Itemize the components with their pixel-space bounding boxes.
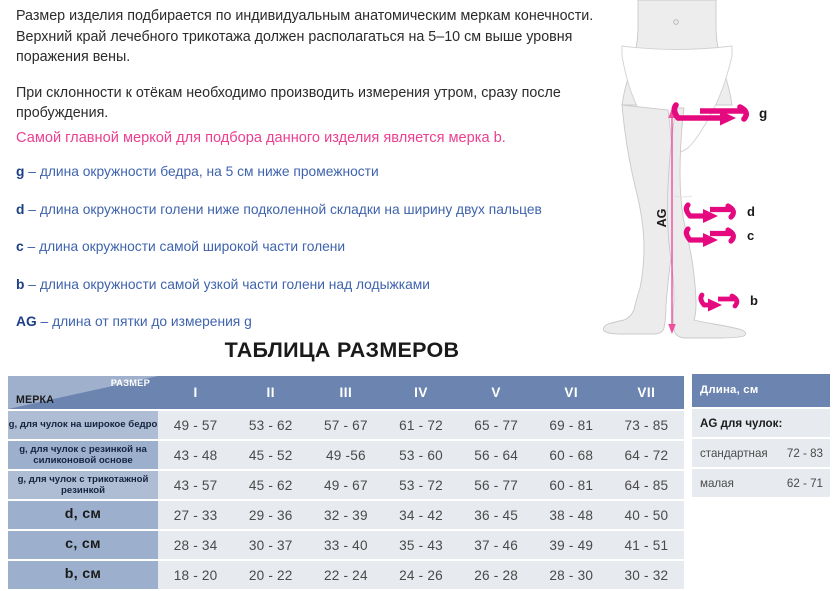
page-title: ТАБЛИЦА РАЗМЕРОВ xyxy=(0,338,684,363)
cell-value: 73 - 85 xyxy=(609,411,684,439)
table-row: g, для чулок на широкое бедро 49 - 57 53… xyxy=(8,411,684,439)
cell-value: 32 - 39 xyxy=(308,501,383,529)
cell-value: 37 - 46 xyxy=(459,531,534,559)
cell-value: 35 - 43 xyxy=(383,531,458,559)
cell-value: 30 - 37 xyxy=(233,531,308,559)
cell-value: 39 - 49 xyxy=(534,531,609,559)
ag-label: AG xyxy=(655,209,669,228)
intro-paragraph-1: Размер изделия подбирается по индивидуал… xyxy=(16,6,616,68)
column-header-i: I xyxy=(158,376,233,409)
legend-key-b: b xyxy=(16,277,24,292)
legend-text-b: длина окружности самой узкой части голен… xyxy=(40,277,430,292)
b-label: b xyxy=(750,293,758,308)
cell-value: 43 - 48 xyxy=(158,441,233,469)
size-table-body: g, для чулок на широкое бедро 49 - 57 53… xyxy=(8,411,684,589)
cell-value: 27 - 33 xyxy=(158,501,233,529)
cell-value: 61 - 72 xyxy=(383,411,458,439)
cell-value: 22 - 24 xyxy=(308,561,383,589)
leg-measurement-illustration: AG g d c xyxy=(600,0,836,350)
length-panel-header: Длина, см xyxy=(692,374,830,407)
column-header-vii: VII xyxy=(609,376,684,409)
cell-value: 29 - 36 xyxy=(233,501,308,529)
cell-value: 41 - 51 xyxy=(609,531,684,559)
length-panel-row-small: малая 62 - 71 xyxy=(692,469,830,497)
cell-value: 26 - 28 xyxy=(459,561,534,589)
cell-value: 28 - 34 xyxy=(158,531,233,559)
cell-value: 45 - 62 xyxy=(233,471,308,499)
d-label: d xyxy=(747,204,755,219)
c-label: c xyxy=(747,228,754,243)
column-header-ii: II xyxy=(233,376,308,409)
cell-value: 28 - 30 xyxy=(534,561,609,589)
cell-value: 38 - 48 xyxy=(534,501,609,529)
cell-value: 49 - 57 xyxy=(158,411,233,439)
highlight-note: Самой главной меркой для подбора данного… xyxy=(16,128,626,148)
cell-value: 53 - 72 xyxy=(383,471,458,499)
cell-value: 49 - 67 xyxy=(308,471,383,499)
table-row: g, для чулок с трикотажной резинкой 43 -… xyxy=(8,471,684,499)
measurement-legend: g – длина окружности бедра, на 5 см ниже… xyxy=(16,163,636,351)
row-label-g-wide-thigh: g, для чулок на широкое бедро xyxy=(8,411,158,439)
row-label-d: d, см xyxy=(8,501,158,529)
legend-item-c: c – длина окружности самой широкой части… xyxy=(16,238,636,256)
cell-value: 34 - 42 xyxy=(383,501,458,529)
cell-value: 18 - 20 xyxy=(158,561,233,589)
g-label: g xyxy=(759,106,767,121)
row-label-g-knit-band: g, для чулок с трикотажной резинкой xyxy=(8,471,158,499)
cell-value: 57 - 67 xyxy=(308,411,383,439)
cell-value: 36 - 45 xyxy=(459,501,534,529)
length-panel-row-title: AG для чулок: xyxy=(692,409,830,437)
cell-value: 64 - 72 xyxy=(609,441,684,469)
size-table: РАЗМЕР МЕРКА I II III IV V VI VII g, для… xyxy=(8,374,684,591)
legend-key-ag: AG xyxy=(16,314,37,329)
d-measure-arrow xyxy=(686,205,733,223)
row-label-g-silicone-band: g, для чулок с резинкой на силиконовой о… xyxy=(8,441,158,469)
length-panel-row-standard: стандартная 72 - 83 xyxy=(692,439,830,467)
cell-value: 20 - 22 xyxy=(233,561,308,589)
table-row: b, см 18 - 20 20 - 22 22 - 24 24 - 26 26… xyxy=(8,561,684,589)
legend-text-c: длина окружности самой широкой части гол… xyxy=(39,239,345,254)
legend-key-d: d xyxy=(16,202,24,217)
column-header-iii: III xyxy=(308,376,383,409)
column-header-v: V xyxy=(459,376,534,409)
size-table-head: РАЗМЕР МЕРКА I II III IV V VI VII xyxy=(8,376,684,409)
cell-value: 56 - 64 xyxy=(459,441,534,469)
legend-dash: – xyxy=(41,314,49,329)
legend-dash: – xyxy=(28,239,36,254)
row-label-b: b, см xyxy=(8,561,158,589)
cell-value: 30 - 32 xyxy=(609,561,684,589)
legend-item-ag: AG – длина от пятки до измерения g xyxy=(16,313,636,331)
cell-value: 53 - 62 xyxy=(233,411,308,439)
table-corner-cell: РАЗМЕР МЕРКА xyxy=(8,376,158,409)
size-table-header-row: РАЗМЕР МЕРКА I II III IV V VI VII xyxy=(8,376,684,409)
legend-dash: – xyxy=(28,202,36,217)
b-measure-arrow xyxy=(701,295,737,312)
length-panel: Длина, см AG для чулок: стандартная 72 -… xyxy=(692,374,830,497)
length-row-name: малая xyxy=(700,477,787,490)
legend-text-g: длина окружности бедра, на 5 см ниже про… xyxy=(40,164,379,179)
legend-dash: – xyxy=(28,164,36,179)
cell-value: 24 - 26 xyxy=(383,561,458,589)
cell-value: 45 - 52 xyxy=(233,441,308,469)
legend-item-b: b – длина окружности самой узкой части г… xyxy=(16,276,636,294)
cell-value: 69 - 81 xyxy=(534,411,609,439)
legend-text-ag: длина от пятки до измерения g xyxy=(52,314,252,329)
legend-item-g: g – длина окружности бедра, на 5 см ниже… xyxy=(16,163,636,181)
cell-value: 53 - 60 xyxy=(383,441,458,469)
cell-value: 64 - 85 xyxy=(609,471,684,499)
cell-value: 65 - 77 xyxy=(459,411,534,439)
length-row-name: стандартная xyxy=(700,447,787,460)
corner-merka-label: МЕРКА xyxy=(16,394,54,406)
legend-key-c: c xyxy=(16,239,24,254)
row-label-c: c, см xyxy=(8,531,158,559)
length-row-value: 62 - 71 xyxy=(787,477,823,490)
legend-key-g: g xyxy=(16,164,24,179)
cell-value: 49 -56 xyxy=(308,441,383,469)
cell-value: 60 - 81 xyxy=(534,471,609,499)
cell-value: 60 - 68 xyxy=(534,441,609,469)
corner-size-label: РАЗМЕР xyxy=(111,378,150,388)
intro-paragraph-2: При склонности к отёкам необходимо произ… xyxy=(16,83,616,124)
cell-value: 56 - 77 xyxy=(459,471,534,499)
knee-line xyxy=(674,196,692,197)
c-measure-arrow xyxy=(686,229,733,247)
cell-value: 40 - 50 xyxy=(609,501,684,529)
intro-text-block: Размер изделия подбирается по индивидуал… xyxy=(16,6,616,139)
length-row-name: AG для чулок: xyxy=(700,417,823,430)
legend-dash: – xyxy=(28,277,36,292)
column-header-vi: VI xyxy=(534,376,609,409)
cell-value: 33 - 40 xyxy=(308,531,383,559)
length-row-value: 72 - 83 xyxy=(787,447,823,460)
legend-text-d: длина окружности голени ниже подколенной… xyxy=(40,202,542,217)
table-row: d, см 27 - 33 29 - 36 32 - 39 34 - 42 36… xyxy=(8,501,684,529)
cell-value: 43 - 57 xyxy=(158,471,233,499)
legend-item-d: d – длина окружности голени ниже подколе… xyxy=(16,201,636,219)
table-row: c, см 28 - 34 30 - 37 33 - 40 35 - 43 37… xyxy=(8,531,684,559)
column-header-iv: IV xyxy=(383,376,458,409)
table-row: g, для чулок с резинкой на силиконовой о… xyxy=(8,441,684,469)
